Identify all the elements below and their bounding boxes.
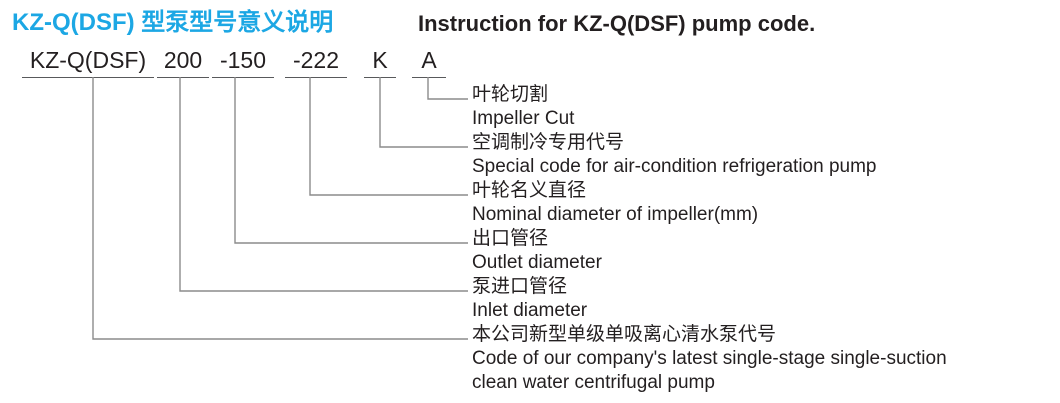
callout-label-cn-outlet-diameter: 出口管径 xyxy=(472,228,548,250)
callout-label-en-outlet-diameter: Outlet diameter xyxy=(472,252,602,274)
leader-line-inlet-diameter xyxy=(180,77,468,291)
callout-label-cn-impeller-diameter: 叶轮名义直径 xyxy=(472,180,586,202)
callout-label-en-series-code-1: Code of our company's latest single-stag… xyxy=(472,348,947,370)
leader-line-impeller-cut xyxy=(428,77,468,99)
callout-label-cn-aircon-code: 空调制冷专用代号 xyxy=(472,132,624,154)
leader-line-series-code xyxy=(93,77,468,339)
callout-label-en-aircon-code: Special code for air-condition refrigera… xyxy=(472,156,877,178)
leader-line-outlet-diameter xyxy=(235,77,468,243)
leader-line-aircon-code xyxy=(380,77,468,147)
pump-code-diagram: KZ-Q(DSF) 型泵型号意义说明 Instruction for KZ-Q(… xyxy=(0,0,1060,403)
callout-label-en-impeller-cut: Impeller Cut xyxy=(472,108,574,130)
callout-label-en-impeller-diameter: Nominal diameter of impeller(mm) xyxy=(472,204,758,226)
leader-line-impeller-diameter xyxy=(310,77,468,195)
callout-label-en-inlet-diameter: Inlet diameter xyxy=(472,300,587,322)
callout-label-cn-series-code: 本公司新型单级单吸离心清水泵代号 xyxy=(472,324,776,346)
callout-label-cn-inlet-diameter: 泵进口管径 xyxy=(472,276,567,298)
callout-label-en-series-code-2: clean water centrifugal pump xyxy=(472,372,715,394)
callout-label-cn-impeller-cut: 叶轮切割 xyxy=(472,84,548,106)
